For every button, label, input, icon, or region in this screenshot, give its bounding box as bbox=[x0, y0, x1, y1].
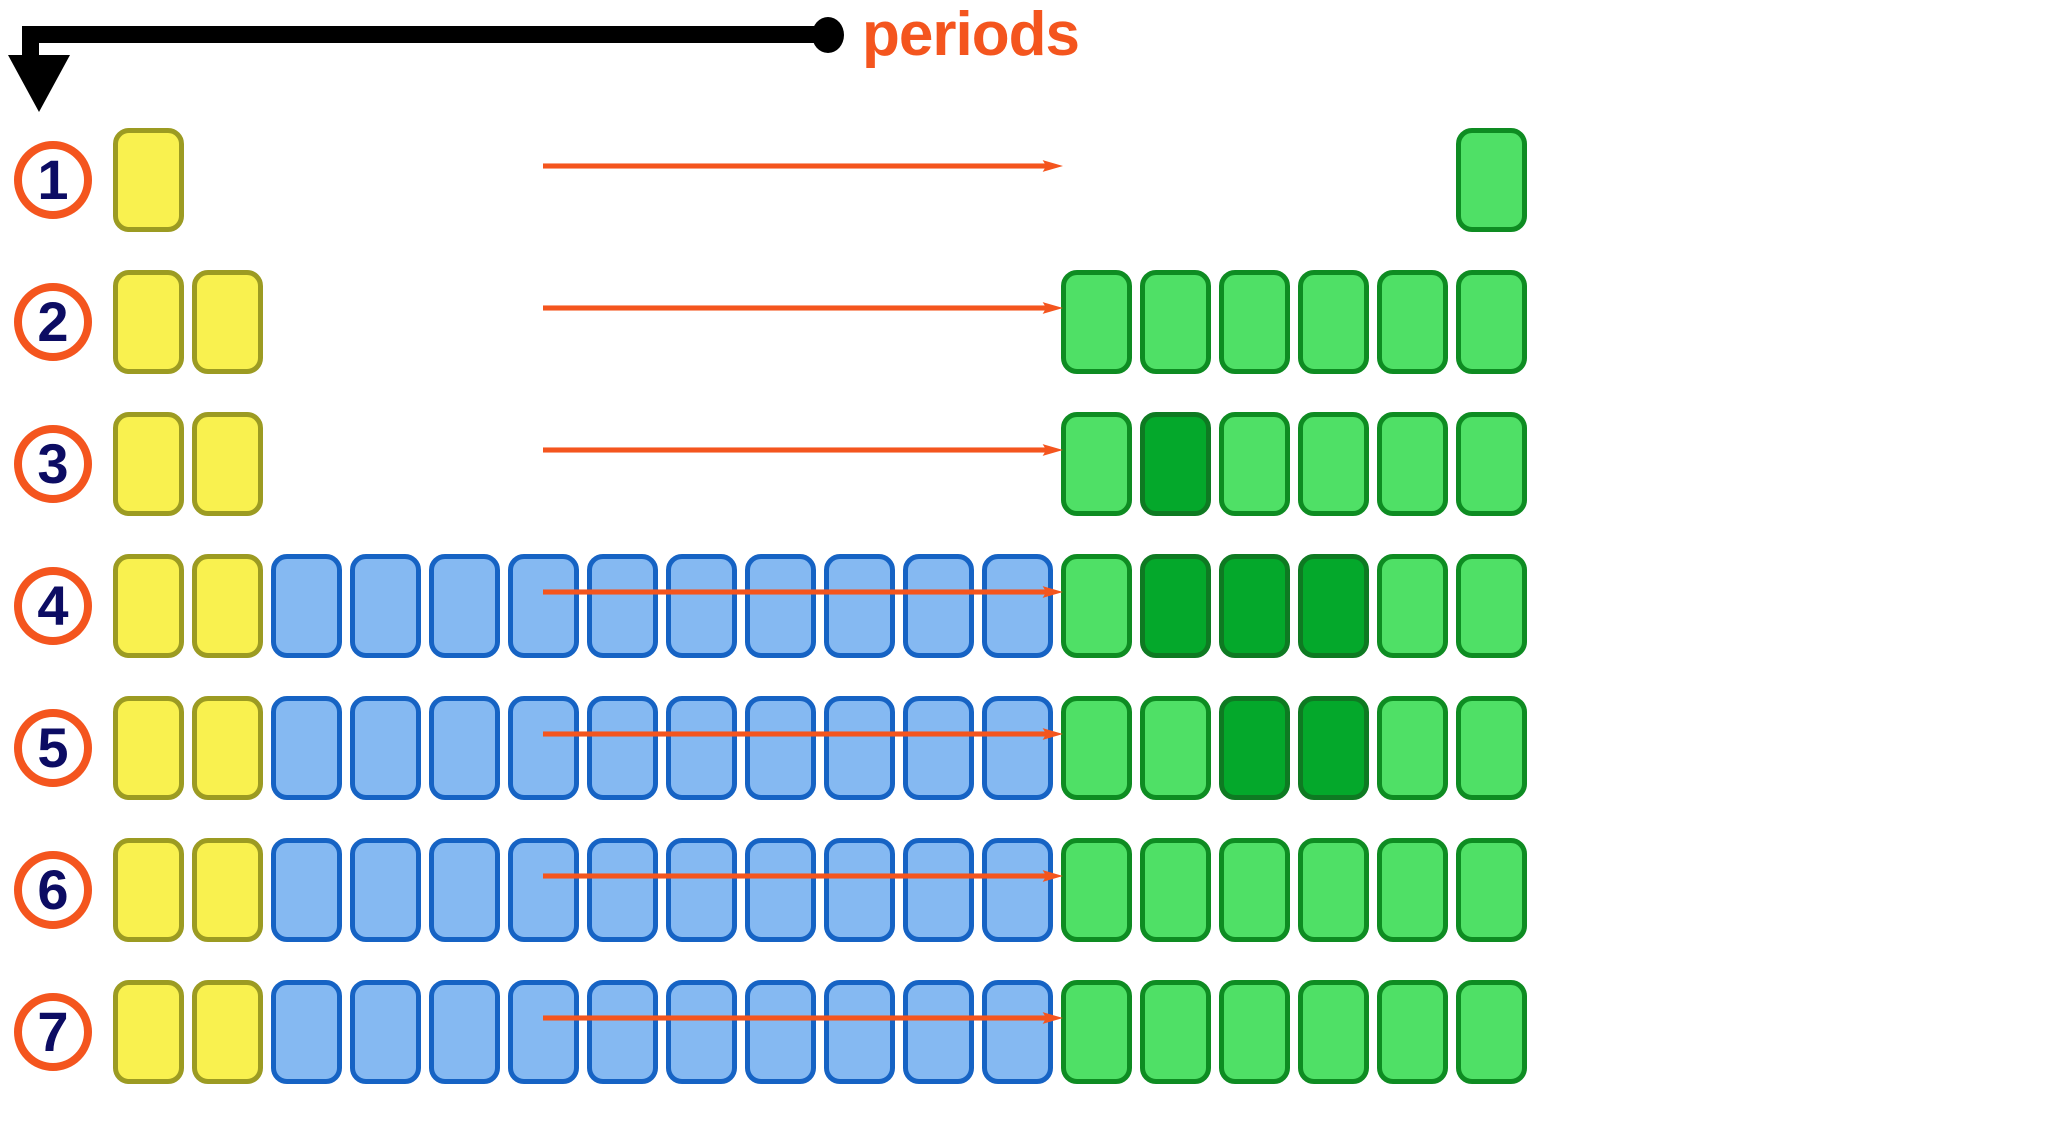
element-cell-p3-g14[interactable] bbox=[1140, 412, 1211, 516]
element-cell-p6-g8[interactable] bbox=[666, 838, 737, 942]
element-cell-p7-g12[interactable] bbox=[982, 980, 1053, 1084]
element-cell-p6-g6[interactable] bbox=[508, 838, 579, 942]
element-cell-p4-g12[interactable] bbox=[982, 554, 1053, 658]
element-cell-p4-g7[interactable] bbox=[587, 554, 658, 658]
element-cell-p2-g2[interactable] bbox=[192, 270, 263, 374]
element-cell-p7-g6[interactable] bbox=[508, 980, 579, 1084]
element-cell-p3-g15[interactable] bbox=[1219, 412, 1290, 516]
element-cell-p7-g15[interactable] bbox=[1219, 980, 1290, 1084]
periods-bracket-icon bbox=[0, 0, 900, 120]
element-cell-p6-g7[interactable] bbox=[587, 838, 658, 942]
element-cell-p5-g17[interactable] bbox=[1377, 696, 1448, 800]
element-grid bbox=[113, 128, 2065, 1136]
element-cell-p2-g17[interactable] bbox=[1377, 270, 1448, 374]
element-cell-p5-g12[interactable] bbox=[982, 696, 1053, 800]
element-cell-p6-g3[interactable] bbox=[271, 838, 342, 942]
element-cell-p6-g18[interactable] bbox=[1456, 838, 1527, 942]
element-cell-p5-g5[interactable] bbox=[429, 696, 500, 800]
element-cell-p5-g13[interactable] bbox=[1061, 696, 1132, 800]
period-number-label: 6 bbox=[37, 862, 68, 918]
element-cell-p6-g15[interactable] bbox=[1219, 838, 1290, 942]
period-number-circle-4[interactable]: 4 bbox=[14, 567, 92, 645]
element-cell-p4-g4[interactable] bbox=[350, 554, 421, 658]
element-cell-p4-g3[interactable] bbox=[271, 554, 342, 658]
period-number-circle-3[interactable]: 3 bbox=[14, 425, 92, 503]
element-cell-p5-g8[interactable] bbox=[666, 696, 737, 800]
element-cell-p7-g4[interactable] bbox=[350, 980, 421, 1084]
element-cell-p5-g7[interactable] bbox=[587, 696, 658, 800]
element-cell-p6-g13[interactable] bbox=[1061, 838, 1132, 942]
element-cell-p7-g9[interactable] bbox=[745, 980, 816, 1084]
element-cell-p5-g4[interactable] bbox=[350, 696, 421, 800]
period-number-circle-5[interactable]: 5 bbox=[14, 709, 92, 787]
period-number-label: 5 bbox=[37, 720, 68, 776]
periods-axis-annotation: periods bbox=[0, 0, 2066, 120]
element-cell-p4-g18[interactable] bbox=[1456, 554, 1527, 658]
element-cell-p4-g11[interactable] bbox=[903, 554, 974, 658]
element-cell-p7-g1[interactable] bbox=[113, 980, 184, 1084]
element-cell-p3-g18[interactable] bbox=[1456, 412, 1527, 516]
element-cell-p6-g14[interactable] bbox=[1140, 838, 1211, 942]
period-number-label: 7 bbox=[37, 1004, 68, 1060]
element-cell-p5-g16[interactable] bbox=[1298, 696, 1369, 800]
element-cell-p3-g16[interactable] bbox=[1298, 412, 1369, 516]
periodic-table-diagram: periods 1234567 bbox=[0, 0, 2066, 1136]
element-cell-p6-g5[interactable] bbox=[429, 838, 500, 942]
element-cell-p7-g13[interactable] bbox=[1061, 980, 1132, 1084]
element-cell-p4-g15[interactable] bbox=[1219, 554, 1290, 658]
element-cell-p2-g14[interactable] bbox=[1140, 270, 1211, 374]
period-number-label: 2 bbox=[37, 294, 68, 350]
element-cell-p7-g18[interactable] bbox=[1456, 980, 1527, 1084]
element-cell-p4-g17[interactable] bbox=[1377, 554, 1448, 658]
element-cell-p4-g6[interactable] bbox=[508, 554, 579, 658]
element-cell-p4-g9[interactable] bbox=[745, 554, 816, 658]
element-cell-p5-g6[interactable] bbox=[508, 696, 579, 800]
element-cell-p3-g13[interactable] bbox=[1061, 412, 1132, 516]
element-cell-p6-g17[interactable] bbox=[1377, 838, 1448, 942]
element-cell-p7-g3[interactable] bbox=[271, 980, 342, 1084]
element-cell-p2-g1[interactable] bbox=[113, 270, 184, 374]
element-cell-p4-g16[interactable] bbox=[1298, 554, 1369, 658]
period-number-circle-6[interactable]: 6 bbox=[14, 851, 92, 929]
element-cell-p5-g2[interactable] bbox=[192, 696, 263, 800]
element-cell-p1-g1[interactable] bbox=[113, 128, 184, 232]
period-number-label: 4 bbox=[37, 578, 68, 634]
element-cell-p7-g17[interactable] bbox=[1377, 980, 1448, 1084]
element-cell-p4-g8[interactable] bbox=[666, 554, 737, 658]
element-cell-p5-g18[interactable] bbox=[1456, 696, 1527, 800]
element-cell-p7-g2[interactable] bbox=[192, 980, 263, 1084]
element-cell-p3-g17[interactable] bbox=[1377, 412, 1448, 516]
period-number-label: 1 bbox=[37, 152, 68, 208]
element-cell-p2-g16[interactable] bbox=[1298, 270, 1369, 374]
period-number-circle-7[interactable]: 7 bbox=[14, 993, 92, 1071]
period-number-circle-1[interactable]: 1 bbox=[14, 141, 92, 219]
element-cell-p4-g14[interactable] bbox=[1140, 554, 1211, 658]
element-cell-p4-g10[interactable] bbox=[824, 554, 895, 658]
element-cell-p7-g16[interactable] bbox=[1298, 980, 1369, 1084]
element-cell-p4-g2[interactable] bbox=[192, 554, 263, 658]
element-cell-p7-g11[interactable] bbox=[903, 980, 974, 1084]
periods-axis-label: periods bbox=[862, 4, 1079, 66]
element-cell-p4-g13[interactable] bbox=[1061, 554, 1132, 658]
element-cell-p5-g14[interactable] bbox=[1140, 696, 1211, 800]
element-cell-p5-g9[interactable] bbox=[745, 696, 816, 800]
element-cell-p5-g10[interactable] bbox=[824, 696, 895, 800]
element-cell-p6-g11[interactable] bbox=[903, 838, 974, 942]
element-cell-p6-g9[interactable] bbox=[745, 838, 816, 942]
element-cell-p7-g8[interactable] bbox=[666, 980, 737, 1084]
element-cell-p2-g18[interactable] bbox=[1456, 270, 1527, 374]
element-cell-p6-g2[interactable] bbox=[192, 838, 263, 942]
element-cell-p6-g10[interactable] bbox=[824, 838, 895, 942]
element-cell-p6-g16[interactable] bbox=[1298, 838, 1369, 942]
element-cell-p5-g15[interactable] bbox=[1219, 696, 1290, 800]
element-cell-p7-g14[interactable] bbox=[1140, 980, 1211, 1084]
element-cell-p2-g13[interactable] bbox=[1061, 270, 1132, 374]
element-cell-p5-g1[interactable] bbox=[113, 696, 184, 800]
element-cell-p4-g1[interactable] bbox=[113, 554, 184, 658]
period-number-circle-2[interactable]: 2 bbox=[14, 283, 92, 361]
element-cell-p1-g18[interactable] bbox=[1456, 128, 1527, 232]
element-cell-p6-g4[interactable] bbox=[350, 838, 421, 942]
element-cell-p6-g12[interactable] bbox=[982, 838, 1053, 942]
period-number-label: 3 bbox=[37, 436, 68, 492]
element-cell-p4-g5[interactable] bbox=[429, 554, 500, 658]
element-cell-p3-g1[interactable] bbox=[113, 412, 184, 516]
element-cell-p7-g10[interactable] bbox=[824, 980, 895, 1084]
element-cell-p3-g2[interactable] bbox=[192, 412, 263, 516]
element-cell-p7-g5[interactable] bbox=[429, 980, 500, 1084]
element-cell-p7-g7[interactable] bbox=[587, 980, 658, 1084]
element-cell-p5-g11[interactable] bbox=[903, 696, 974, 800]
element-cell-p5-g3[interactable] bbox=[271, 696, 342, 800]
element-cell-p6-g1[interactable] bbox=[113, 838, 184, 942]
element-cell-p2-g15[interactable] bbox=[1219, 270, 1290, 374]
